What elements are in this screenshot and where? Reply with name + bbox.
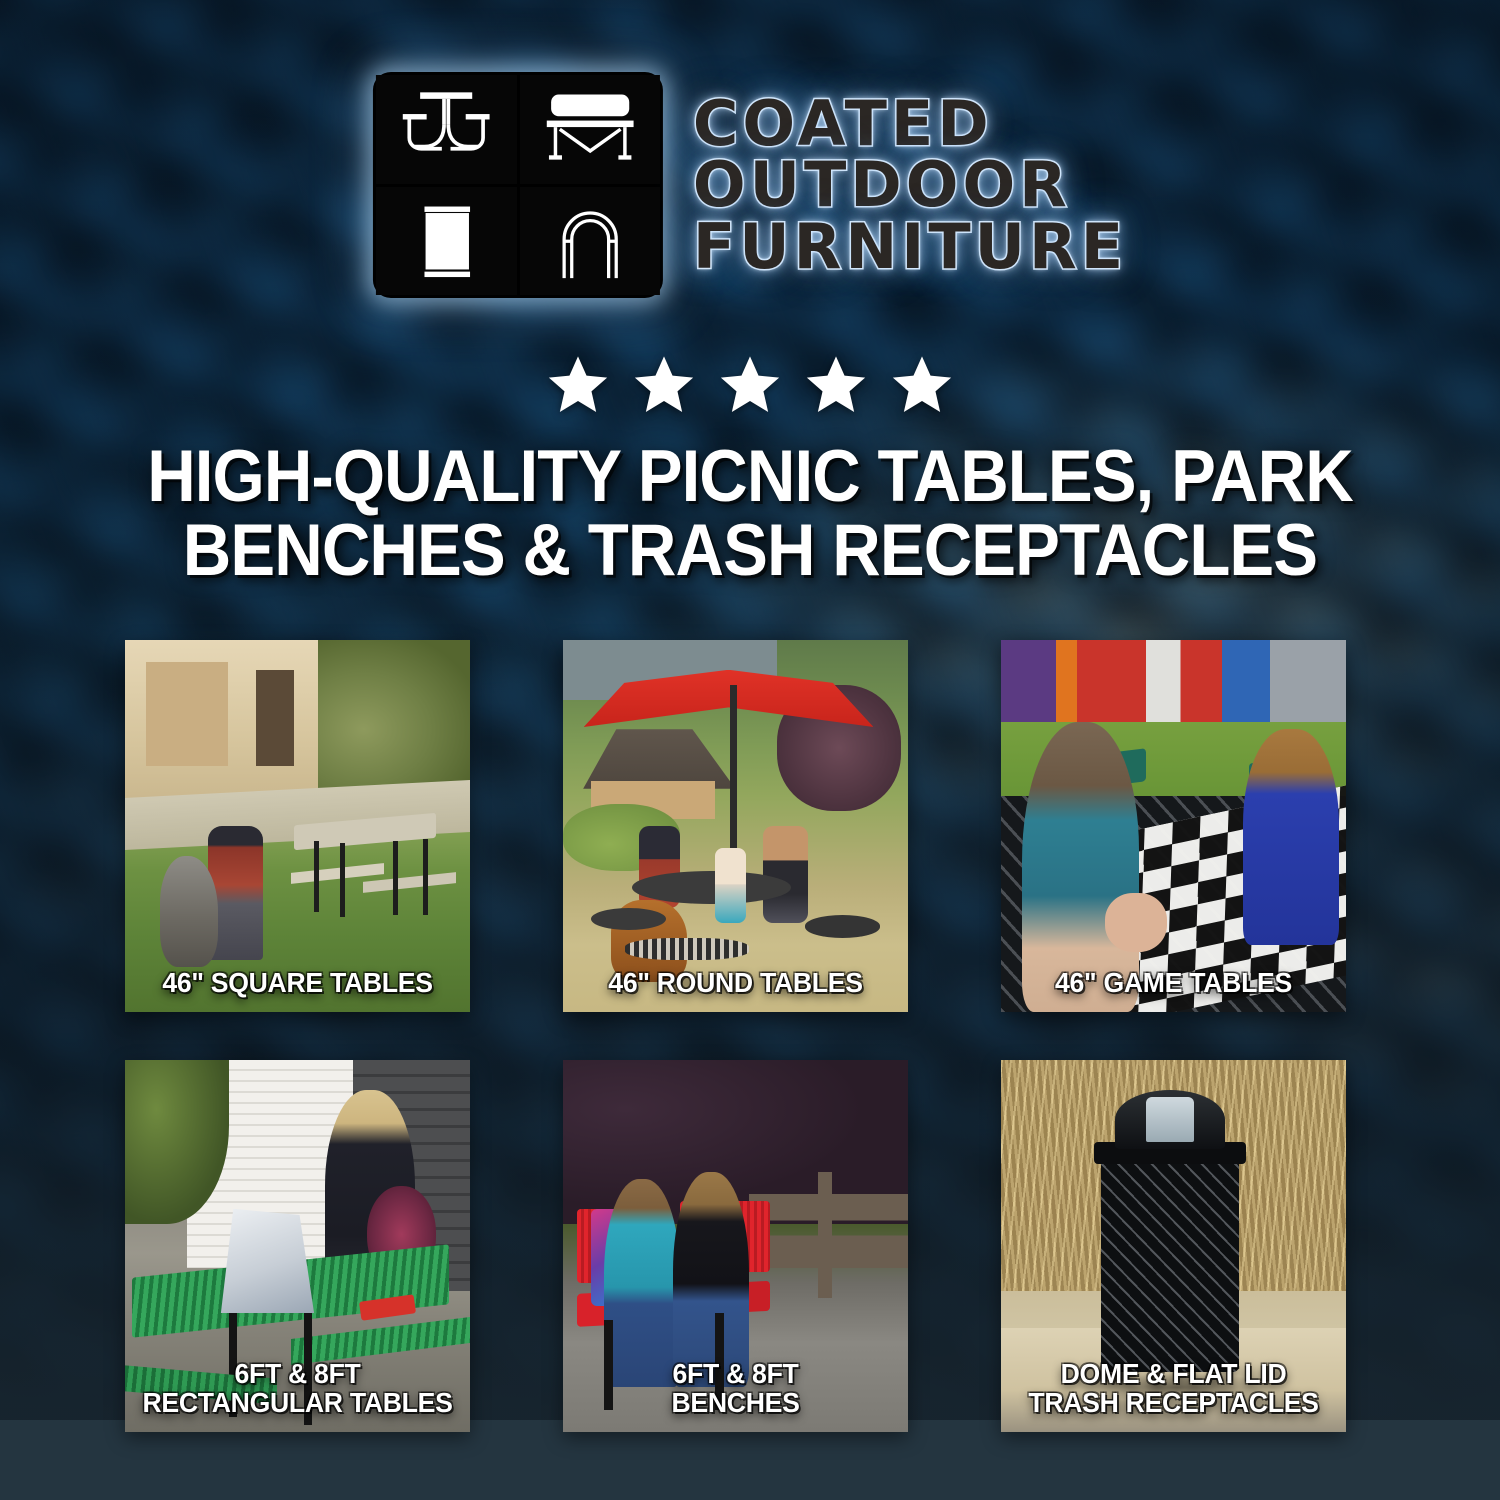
- star-rating: [0, 352, 1500, 418]
- tile-caption-line-1: 6FT & 8FT: [572, 1359, 900, 1389]
- product-photo-square-tables: [125, 640, 470, 1012]
- brand-wordmark: COATED OUTDOOR FURNITURE: [693, 94, 1127, 277]
- brand-line-3: FURNITURE: [693, 217, 1127, 277]
- product-photo-round-tables: [563, 640, 908, 1012]
- product-tile-rectangular-tables[interactable]: 6FT & 8FT RECTANGULAR TABLES: [125, 1060, 470, 1432]
- tile-caption-line-2: TRASH RECEPTACLES: [1010, 1388, 1338, 1418]
- poster-canvas: COATED OUTDOOR FURNITURE HIGH-QUA: [0, 0, 1500, 1500]
- tile-caption: DOME & FLAT LID TRASH RECEPTACLES: [1001, 1359, 1346, 1418]
- star-icon: [630, 352, 698, 418]
- tile-caption: 46" ROUND TABLES: [563, 968, 908, 998]
- brand-line-1: COATED: [693, 94, 1127, 154]
- page-title: HIGH-QUALITY PICNIC TABLES, PARK BENCHES…: [80, 440, 1420, 589]
- picnic-table-icon: [376, 75, 517, 184]
- tile-caption-line-2: BENCHES: [572, 1388, 900, 1418]
- product-photo-game-tables: [1001, 640, 1346, 1012]
- trash-receptacle-icon: [376, 187, 517, 296]
- product-category-grid: 46" SQUARE TABLES 46" ROUND TABLES: [125, 640, 1375, 1432]
- star-icon: [716, 352, 784, 418]
- brand-lockup: COATED OUTDOOR FURNITURE: [373, 72, 1127, 298]
- headline-line-2: BENCHES & TRASH RECEPTACLES: [134, 514, 1367, 588]
- tile-caption: 46" SQUARE TABLES: [125, 968, 470, 998]
- product-tile-square-tables[interactable]: 46" SQUARE TABLES: [125, 640, 470, 1012]
- product-tile-trash-receptacles[interactable]: DOME & FLAT LID TRASH RECEPTACLES: [1001, 1060, 1346, 1432]
- star-icon: [802, 352, 870, 418]
- product-tile-round-tables[interactable]: 46" ROUND TABLES: [563, 640, 908, 1012]
- grid-row-bottom: 6FT & 8FT RECTANGULAR TABLES 6FT & 8FT B…: [125, 1060, 1375, 1432]
- product-tile-benches[interactable]: 6FT & 8FT BENCHES: [563, 1060, 908, 1432]
- brand-line-2: OUTDOOR: [693, 155, 1127, 215]
- star-icon: [544, 352, 612, 418]
- bike-rack-icon: [519, 187, 660, 296]
- tile-caption-line-1: 46" GAME TABLES: [1010, 968, 1338, 998]
- grid-row-top: 46" SQUARE TABLES 46" ROUND TABLES: [125, 640, 1375, 1012]
- tile-caption: 6FT & 8FT RECTANGULAR TABLES: [125, 1359, 470, 1418]
- background-bottom-band: [0, 1420, 1500, 1500]
- tile-caption: 6FT & 8FT BENCHES: [563, 1359, 908, 1418]
- headline-line-1: HIGH-QUALITY PICNIC TABLES, PARK: [134, 440, 1367, 514]
- product-tile-game-tables[interactable]: 46" GAME TABLES: [1001, 640, 1346, 1012]
- tile-caption-line-1: 6FT & 8FT: [134, 1359, 462, 1389]
- tile-caption: 46" GAME TABLES: [1001, 968, 1346, 998]
- star-icon: [888, 352, 956, 418]
- tile-caption-line-1: DOME & FLAT LID: [1010, 1359, 1338, 1389]
- logo-mark: [373, 72, 663, 298]
- tile-caption-line-2: RECTANGULAR TABLES: [134, 1388, 462, 1418]
- bench-icon: [519, 75, 660, 184]
- tile-caption-line-1: 46" SQUARE TABLES: [134, 968, 462, 998]
- tile-caption-line-1: 46" ROUND TABLES: [572, 968, 900, 998]
